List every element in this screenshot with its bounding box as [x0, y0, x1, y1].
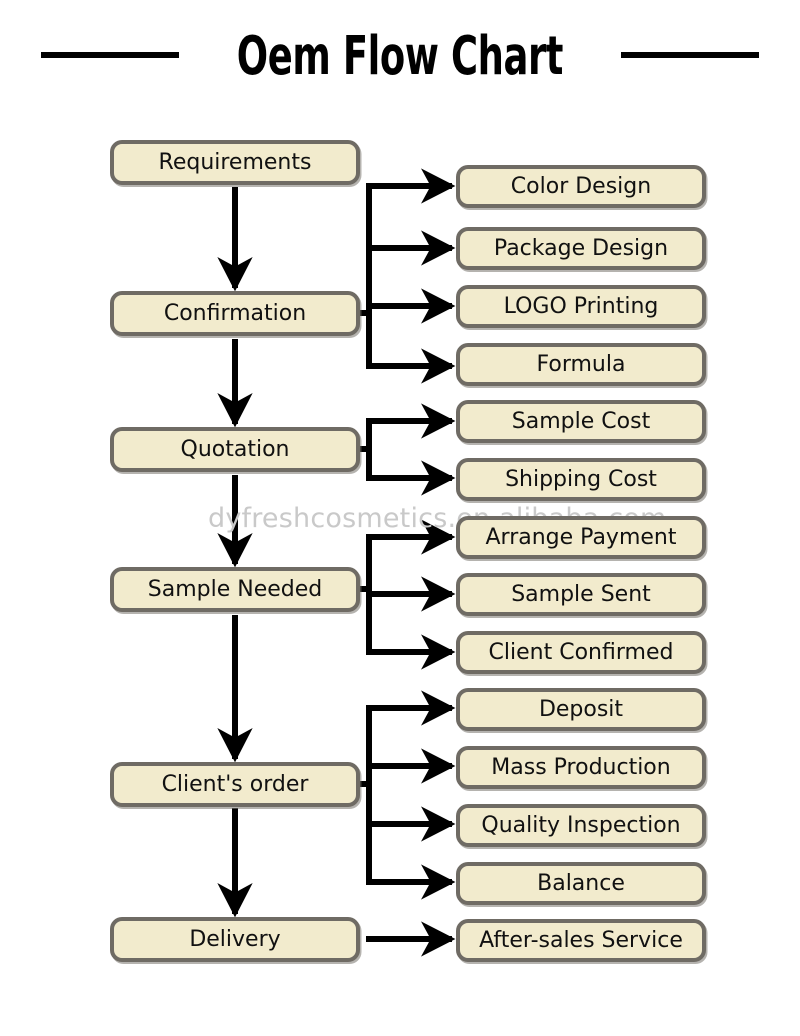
node-clients-order[interactable]: Client's order — [110, 762, 360, 807]
node-mass-production[interactable]: Mass Production — [456, 746, 706, 789]
node-client-confirmed[interactable]: Client Confirmed — [456, 631, 706, 674]
node-arrange-payment[interactable]: Arrange Payment — [456, 516, 706, 559]
node-label: Delivery — [189, 929, 280, 951]
node-requirements[interactable]: Requirements — [110, 140, 360, 185]
node-label: Client's order — [162, 774, 309, 796]
flow-chart-canvas: Oem Flow Chart — [0, 0, 800, 1036]
node-shipping-cost[interactable]: Shipping Cost — [456, 458, 706, 501]
node-label: Sample Cost — [512, 411, 650, 433]
node-label: Client Confirmed — [489, 642, 674, 664]
node-label: Formula — [537, 354, 626, 376]
node-label: LOGO Printing — [504, 296, 659, 318]
node-label: Package Design — [494, 238, 668, 260]
node-label: Confirmation — [164, 303, 306, 325]
node-label: Sample Sent — [511, 584, 651, 606]
node-label: Requirements — [159, 152, 312, 174]
node-label: Deposit — [539, 699, 623, 721]
node-confirmation[interactable]: Confirmation — [110, 291, 360, 336]
node-label: After-sales Service — [479, 930, 683, 952]
node-label: Shipping Cost — [505, 469, 657, 491]
node-color-design[interactable]: Color Design — [456, 165, 706, 208]
node-after-sales-service[interactable]: After-sales Service — [456, 919, 706, 962]
chart-title-bar: Oem Flow Chart — [0, 20, 800, 90]
page-title: Oem Flow Chart — [237, 24, 563, 87]
node-sample-needed[interactable]: Sample Needed — [110, 567, 360, 612]
node-label: Sample Needed — [148, 579, 322, 601]
node-sample-sent[interactable]: Sample Sent — [456, 573, 706, 616]
node-label: Quality Inspection — [481, 815, 680, 837]
title-rule-left-decoration — [41, 52, 179, 58]
node-logo-printing[interactable]: LOGO Printing — [456, 285, 706, 328]
node-quality-inspection[interactable]: Quality Inspection — [456, 804, 706, 847]
node-delivery[interactable]: Delivery — [110, 917, 360, 962]
node-quotation[interactable]: Quotation — [110, 427, 360, 472]
node-balance[interactable]: Balance — [456, 862, 706, 905]
node-label: Mass Production — [491, 757, 670, 779]
node-label: Balance — [537, 873, 625, 895]
node-sample-cost[interactable]: Sample Cost — [456, 400, 706, 443]
title-rule-right-decoration — [621, 52, 759, 58]
node-deposit[interactable]: Deposit — [456, 688, 706, 731]
node-formula[interactable]: Formula — [456, 343, 706, 386]
node-label: Color Design — [511, 176, 651, 198]
node-package-design[interactable]: Package Design — [456, 227, 706, 270]
node-label: Quotation — [181, 439, 290, 461]
node-label: Arrange Payment — [486, 527, 677, 549]
